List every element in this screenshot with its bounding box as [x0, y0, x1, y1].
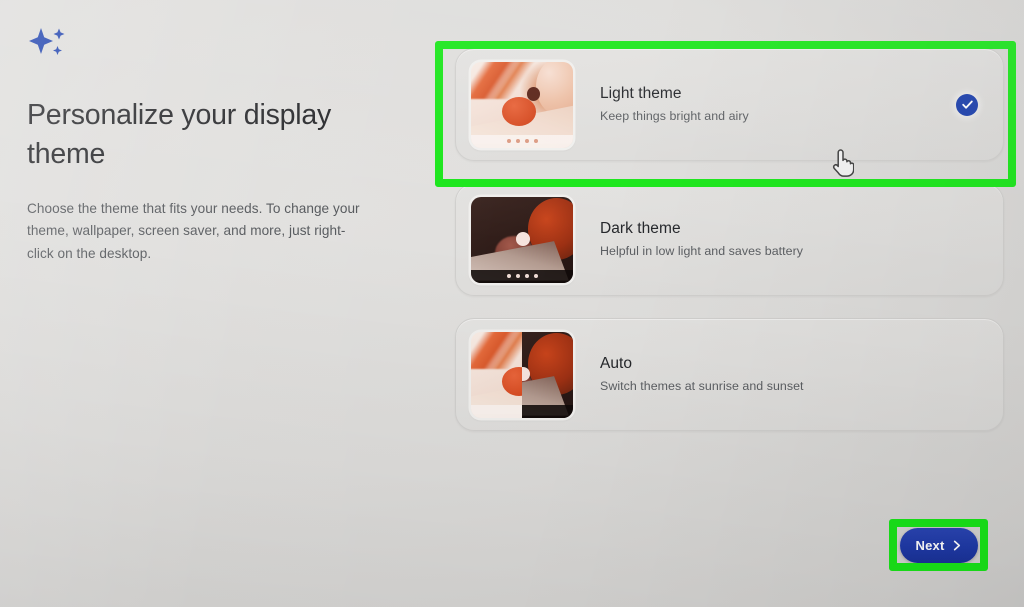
thumbnail-taskbar [471, 405, 573, 418]
light-theme-thumbnail [471, 62, 573, 148]
taskbar-dot [526, 409, 530, 413]
dark-theme-option-card[interactable]: Dark theme Helpful in low light and save… [455, 183, 1004, 296]
taskbar-dot [507, 274, 511, 278]
selected-check-icon [956, 94, 978, 116]
auto-theme-option-card[interactable]: Auto Switch themes at sunrise and sunset [455, 318, 1004, 431]
taskbar-dot [516, 139, 520, 143]
taskbar-dot [534, 274, 538, 278]
taskbar-dot [535, 409, 539, 413]
option-subtitle: Keep things bright and airy [600, 108, 956, 125]
thumbnail-taskbar [471, 135, 573, 148]
taskbar-dot [516, 274, 520, 278]
taskbar-dot [534, 139, 538, 143]
thumbnail-taskbar [471, 270, 573, 283]
option-title: Light theme [600, 84, 956, 104]
option-subtitle: Helpful in low light and saves battery [600, 243, 1003, 260]
taskbar-dot [503, 409, 507, 413]
setup-wizard-screen: Personalize your display theme Choose th… [0, 0, 1024, 607]
auto-theme-text: Auto Switch themes at sunrise and sunset [600, 354, 1003, 395]
theme-options-list: Light theme Keep things bright and airy [455, 48, 1004, 431]
taskbar-dot [525, 274, 529, 278]
dark-theme-thumbnail [471, 197, 573, 283]
taskbar-dot [507, 139, 511, 143]
taskbar-dot [525, 139, 529, 143]
option-title: Dark theme [600, 219, 1003, 239]
next-button-label: Next [916, 538, 945, 553]
option-subtitle: Switch themes at sunrise and sunset [600, 378, 1003, 395]
page-title: Personalize your display theme [27, 96, 357, 174]
sparkle-icon [27, 22, 71, 66]
light-theme-text: Light theme Keep things bright and airy [600, 84, 956, 125]
light-theme-option-card[interactable]: Light theme Keep things bright and airy [455, 48, 1004, 161]
auto-theme-thumbnail [471, 332, 573, 418]
dark-theme-text: Dark theme Helpful in low light and save… [600, 219, 1003, 260]
left-panel: Personalize your display theme Choose th… [27, 22, 395, 265]
chevron-right-icon [951, 540, 962, 551]
next-button[interactable]: Next [900, 528, 978, 563]
page-description: Choose the theme that fits your needs. T… [27, 198, 372, 265]
taskbar-dot [512, 409, 516, 413]
option-title: Auto [600, 354, 1003, 374]
